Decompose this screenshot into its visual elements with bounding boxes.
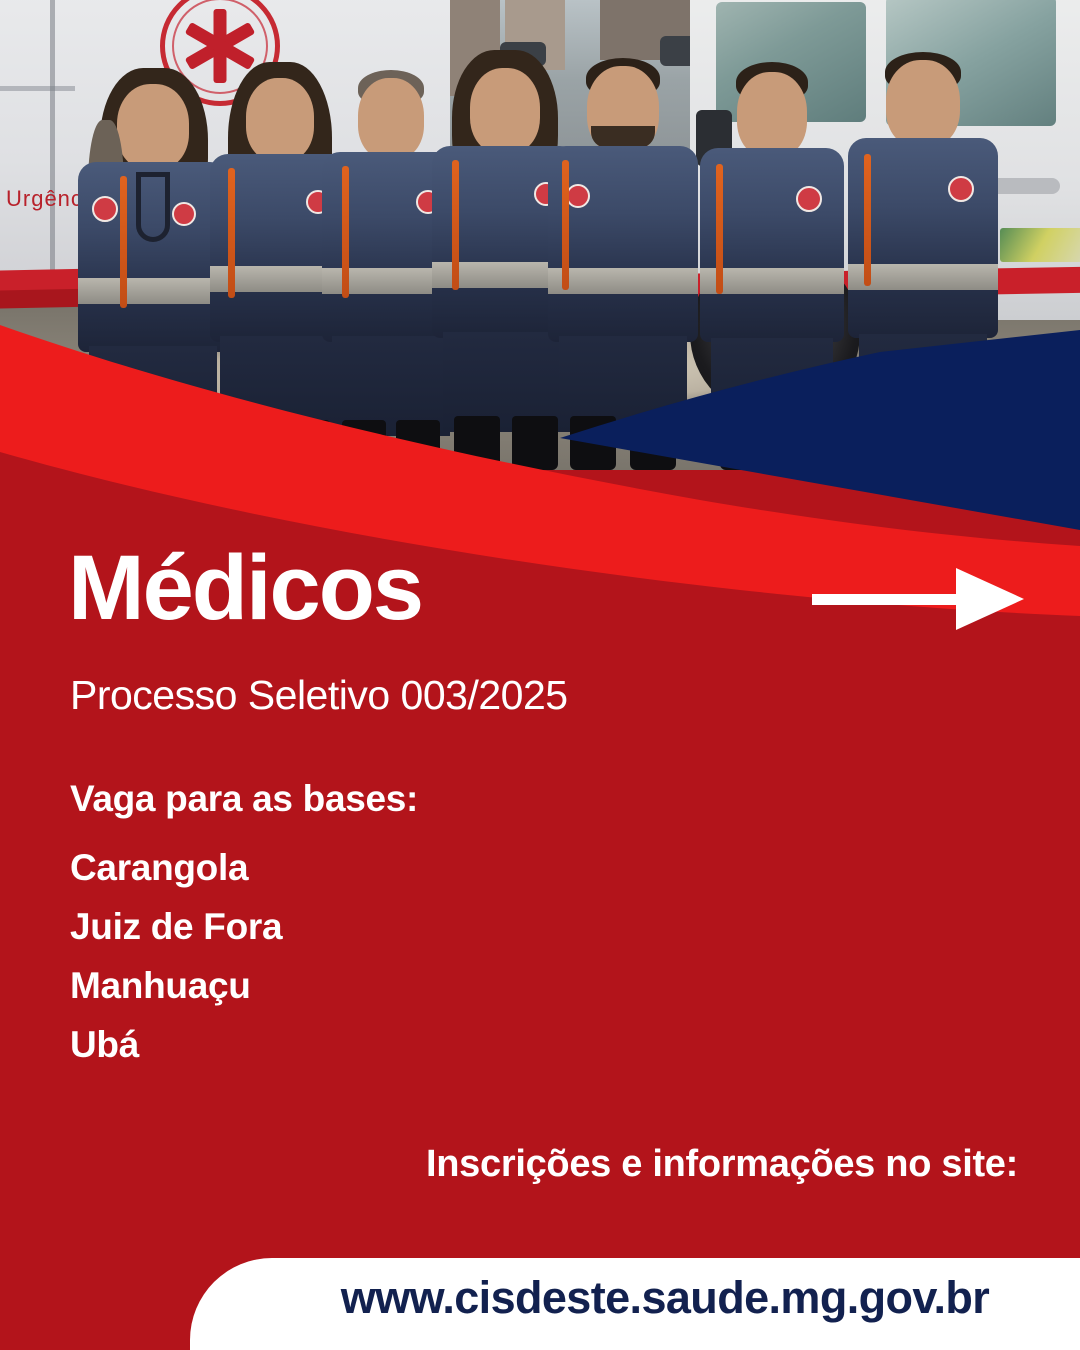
poster-root: ulart Urgênc: [0, 0, 1080, 1350]
poster-content: Médicos Processo Seletivo 003/2025 Vaga …: [0, 0, 1080, 1350]
subtitle: Processo Seletivo 003/2025: [70, 672, 568, 719]
bases-list: Carangola Juiz de Fora Manhuaçu Ubá: [70, 838, 282, 1074]
url-panel[interactable]: www.cisdeste.saude.mg.gov.br: [190, 1258, 1080, 1350]
arrow-head: [956, 568, 1024, 630]
website-url[interactable]: www.cisdeste.saude.mg.gov.br: [190, 1272, 1080, 1324]
list-item: Manhuaçu: [70, 956, 282, 1015]
arrow-shaft: [812, 594, 962, 605]
cta-text: Inscrições e informações no site:: [426, 1143, 1018, 1186]
arrow-right-icon: [812, 568, 1024, 630]
list-item: Juiz de Fora: [70, 897, 282, 956]
bases-label: Vaga para as bases:: [70, 778, 418, 820]
page-title: Médicos: [68, 542, 422, 634]
list-item: Ubá: [70, 1015, 282, 1074]
list-item: Carangola: [70, 838, 282, 897]
